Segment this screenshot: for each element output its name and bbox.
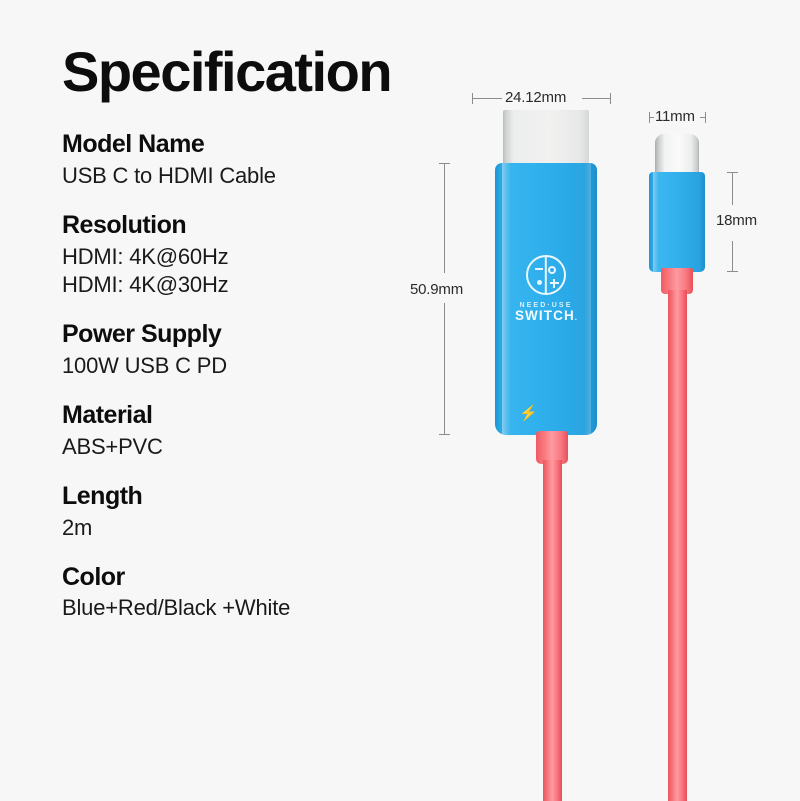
switch-logo: NEED·USE SWITCH. <box>495 255 597 324</box>
spec-item-length: Length 2m <box>62 482 442 542</box>
lightning-bolt-icon: ⚡ <box>519 406 538 421</box>
spec-value-line: HDMI: 4K@60Hz <box>62 243 442 271</box>
dimension-label: 18mm <box>716 212 757 229</box>
plus-icon-vertical <box>553 279 555 288</box>
page-title: Specification <box>62 44 442 100</box>
spec-value: HDMI: 4K@60Hz HDMI: 4K@30Hz <box>62 243 442 299</box>
dimension-label: 24.12mm <box>505 89 566 106</box>
dot-icon <box>537 280 542 285</box>
spec-value-line: 2m <box>62 514 442 542</box>
logo-divider <box>545 257 547 293</box>
spec-item-resolution: Resolution HDMI: 4K@60Hz HDMI: 4K@30Hz <box>62 211 442 299</box>
spec-label: Material <box>62 401 442 430</box>
spec-label: Model Name <box>62 130 442 159</box>
spec-label: Color <box>62 563 442 592</box>
spec-item-material: Material ABS+PVC <box>62 401 442 461</box>
spec-value: ABS+PVC <box>62 433 442 461</box>
hdmi-connector-housing: NEED·USE SWITCH. ⚡ <box>495 163 597 435</box>
spec-value-line: HDMI: 4K@30Hz <box>62 271 442 299</box>
spec-item-power-supply: Power Supply 100W USB C PD <box>62 320 442 380</box>
brand-mark: . <box>575 313 577 322</box>
spec-item-color: Color Blue+Red/Black +White <box>62 563 442 623</box>
product-illustration: NEED·USE SWITCH. ⚡ 24.12mm 50 <box>400 0 800 800</box>
switch-logo-icon <box>526 255 566 295</box>
spec-value-line: 100W USB C PD <box>62 352 442 380</box>
spec-value-line: USB C to HDMI Cable <box>62 162 442 190</box>
spec-value-line: ABS+PVC <box>62 433 442 461</box>
hdmi-metal-plug <box>503 110 589 168</box>
specification-list: Specification Model Name USB C to HDMI C… <box>62 44 442 644</box>
spec-value: 100W USB C PD <box>62 352 442 380</box>
dimension-label: 50.9mm <box>410 281 463 298</box>
brand-name: SWITCH. <box>515 309 577 324</box>
spec-label: Power Supply <box>62 320 442 349</box>
spec-value: USB C to HDMI Cable <box>62 162 442 190</box>
housing-highlight <box>653 172 659 272</box>
circle-icon <box>548 266 556 274</box>
spec-item-model-name: Model Name USB C to HDMI Cable <box>62 130 442 190</box>
spec-label: Length <box>62 482 442 511</box>
usbc-cable <box>668 290 687 801</box>
dimension-label: 11mm <box>655 108 695 125</box>
spec-label: Resolution <box>62 211 442 240</box>
spec-value-line: Blue+Red/Black +White <box>62 594 442 622</box>
specification-page: Specification Model Name USB C to HDMI C… <box>0 0 800 800</box>
spec-value: 2m <box>62 514 442 542</box>
usbc-connector-housing <box>649 172 705 272</box>
hdmi-cable <box>543 460 562 801</box>
brand-name-text: SWITCH <box>515 308 575 323</box>
spec-value: Blue+Red/Black +White <box>62 594 442 622</box>
minus-icon <box>535 268 543 270</box>
